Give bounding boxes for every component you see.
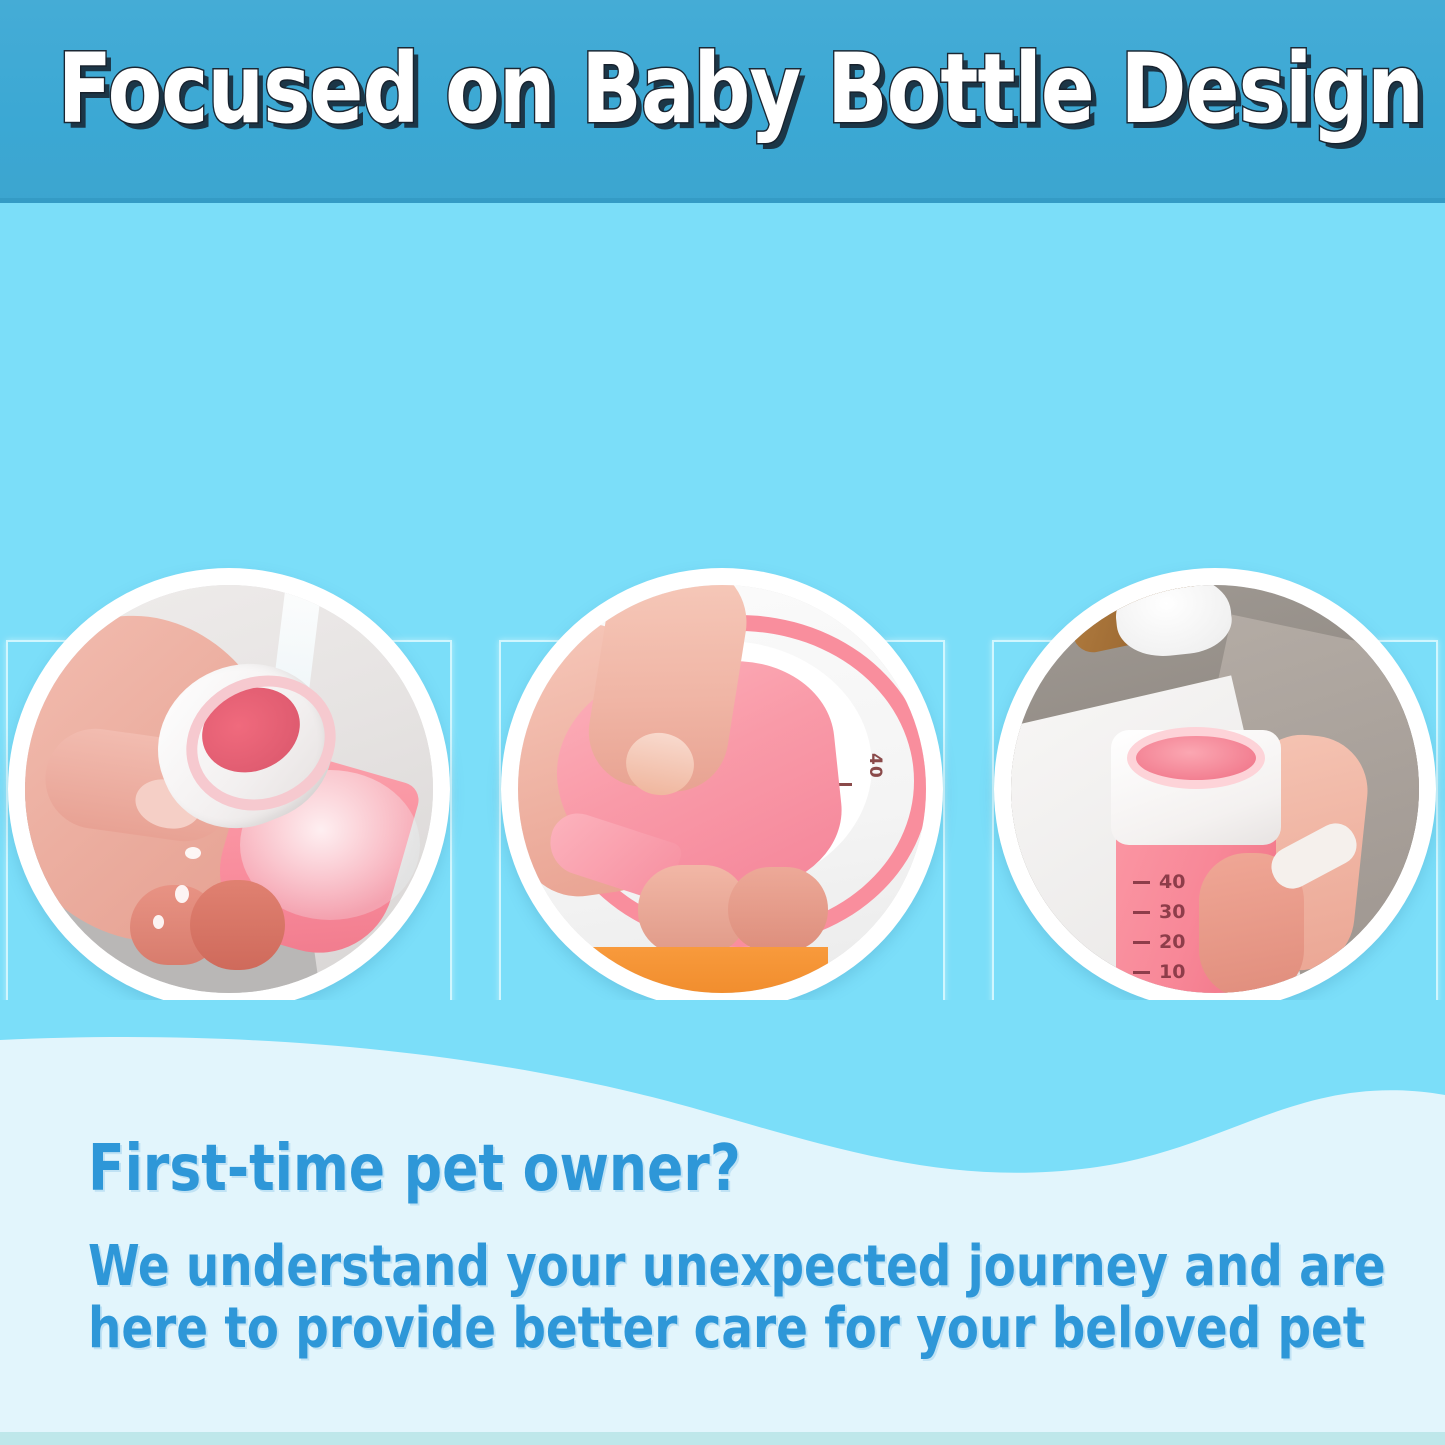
scale-tick-icon [1133, 911, 1150, 914]
bottom-headline: First-time pet owner? [88, 1134, 741, 1204]
scale-label-20: 20 [1159, 931, 1185, 953]
scale-label-30: 30 [1159, 901, 1185, 923]
photo-illustration-formula-scoop: 40 30 20 10 [1011, 585, 1419, 993]
header-band: Focused on Baby Bottle Design [0, 0, 1445, 203]
subcopy-line-2: here to provide better care for your bel… [88, 1298, 1269, 1360]
scale-label-40: 40 [1159, 871, 1185, 893]
feature-photo-1 [8, 568, 450, 1010]
scale-tick-icon [1133, 971, 1150, 974]
feature-photo-2: 40 [501, 568, 943, 1010]
page-title: Focused on Baby Bottle Design [58, 36, 1387, 142]
scale-tick-icon [1133, 881, 1150, 884]
subcopy-line-1: We understand your unexpected journey an… [88, 1236, 1269, 1298]
features-section: Easy to clean No residue buildup 40 [0, 203, 1445, 1033]
photo-illustration-squeezing-nipple: 40 [518, 585, 926, 993]
photo-illustration-rinsing-bottle [25, 585, 433, 993]
scale-label-10: 10 [1159, 961, 1185, 983]
scale-tick-icon [1133, 941, 1150, 944]
bottom-edge-strip [0, 1432, 1445, 1445]
infographic-page: Focused on Baby Bottle Design [0, 0, 1445, 1445]
bottom-subcopy: We understand your unexpected journey an… [88, 1236, 1269, 1360]
feature-photo-3: 40 30 20 10 [994, 568, 1436, 1010]
